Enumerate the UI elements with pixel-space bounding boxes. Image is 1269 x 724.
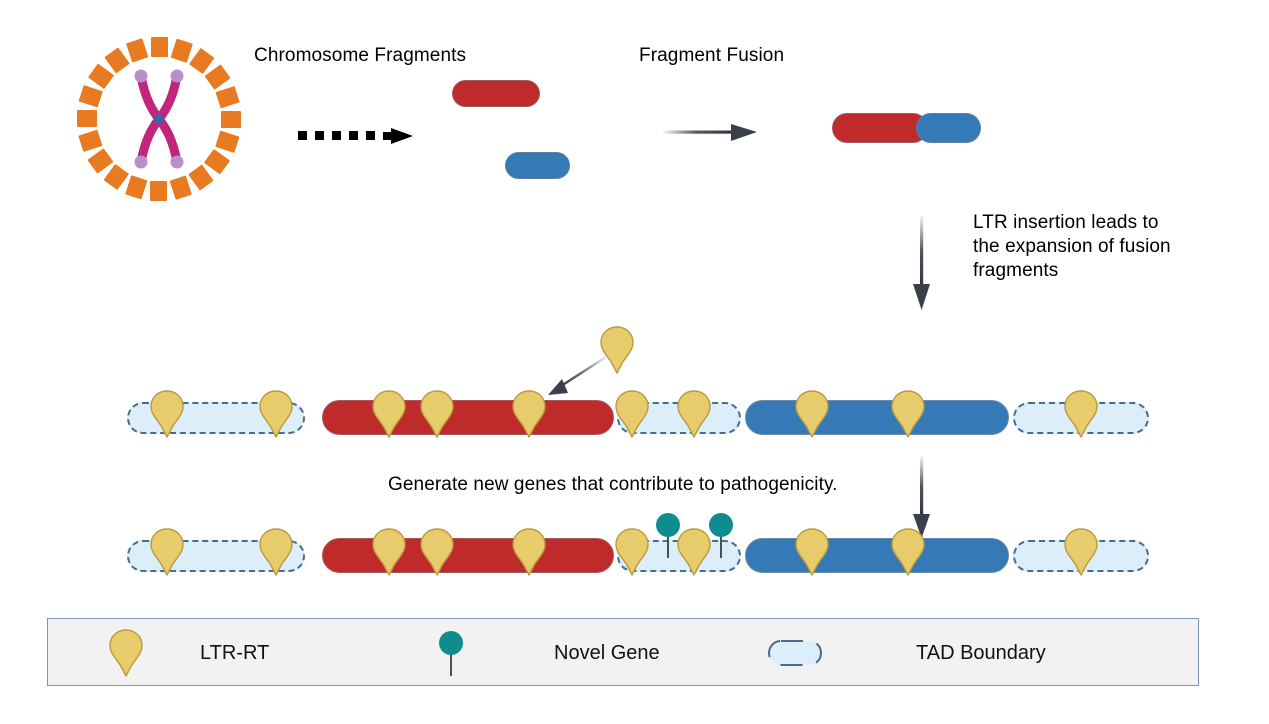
legend-item-tad-boundary: TAD Boundary [766, 619, 1046, 687]
red-fragment-segment [322, 400, 614, 435]
label-fragment-fusion: Fragment Fusion [639, 45, 784, 67]
dotted-arrow-right-icon [298, 124, 420, 150]
ltr-rt-pin-icon [417, 389, 457, 439]
ltr-rt-pin-icon-floating [597, 325, 637, 375]
novel-gene-icon [438, 630, 464, 676]
expanded-fusion-row [0, 380, 1269, 450]
ltr-rt-pin-icon [256, 527, 296, 577]
arrow-right-icon [663, 120, 763, 146]
label-generate-new-genes: Generate new genes that contribute to pa… [388, 474, 838, 496]
ltr-rt-pin-icon [888, 527, 928, 577]
fused-fragment-blue [916, 113, 981, 143]
arrow-down-icon [908, 216, 938, 314]
blue-fragment-segment [745, 538, 1009, 573]
ltr-rt-pin-icon [792, 389, 832, 439]
ltr-rt-pin-icon [1061, 527, 1101, 577]
legend-label-ltr-rt: LTR-RT [200, 642, 269, 665]
chromosome-fragment-red [452, 80, 540, 107]
ltr-rt-pin-icon [369, 527, 409, 577]
ltr-rt-pin-icon [417, 527, 457, 577]
ltr-rt-pin-icon [106, 628, 146, 678]
chromosome-fragment-blue [505, 152, 570, 179]
tad-boundary-icon [766, 636, 824, 670]
ltr-rt-pin-icon [1061, 389, 1101, 439]
legend-label-novel-gene: Novel Gene [554, 642, 660, 665]
blue-fragment-segment [745, 400, 1009, 435]
ltr-rt-pin-icon [792, 527, 832, 577]
ltr-rt-pin-icon [147, 527, 187, 577]
label-chromosome-fragments: Chromosome Fragments [254, 45, 466, 67]
fused-fragment-red [832, 113, 928, 143]
ltr-rt-pin-icon [509, 527, 549, 577]
ltr-rt-pin-icon [256, 389, 296, 439]
ltr-rt-pin-icon [612, 527, 652, 577]
legend-item-ltr-rt: LTR-RT [106, 619, 269, 687]
legend-item-novel-gene: Novel Gene [438, 619, 660, 687]
ltr-rt-pin-icon [147, 389, 187, 439]
ltr-rt-pin-icon [674, 527, 714, 577]
ltr-rt-pin-icon [888, 389, 928, 439]
ltr-rt-pin-icon [369, 389, 409, 439]
label-ltr-insertion: LTR insertion leads to the expansion of … [973, 211, 1185, 283]
chromosome-icon [66, 36, 252, 202]
red-fragment-segment [322, 538, 614, 573]
ltr-rt-pin-icon [674, 389, 714, 439]
legend: LTR-RT Novel Gene TAD Boundary [47, 618, 1199, 686]
legend-label-tad-boundary: TAD Boundary [916, 642, 1046, 665]
ltr-rt-pin-icon [612, 389, 652, 439]
diagram-canvas: Chromosome Fragments Fragment Fusion [0, 0, 1269, 724]
novel-gene-row [0, 518, 1269, 588]
